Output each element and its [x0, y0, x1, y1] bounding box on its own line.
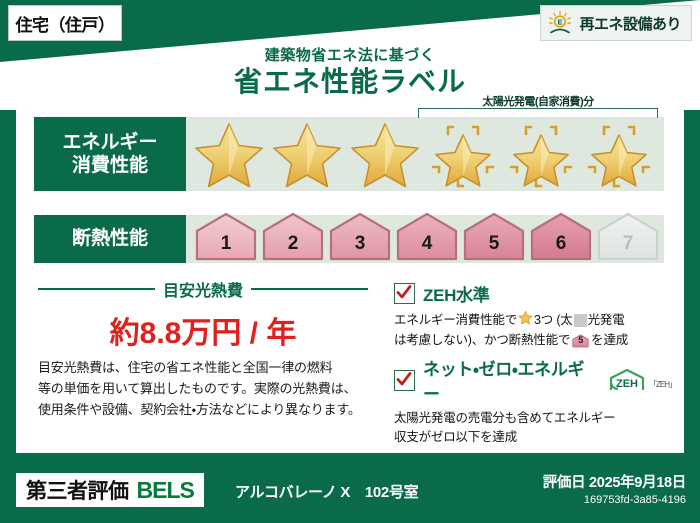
inline-star-icon	[518, 310, 533, 331]
label-main-card: エネルギー 消費性能 太陽光発電(自家消費)分	[16, 105, 684, 453]
insulation-performance-row: 断熱性能	[34, 215, 664, 263]
zeh-desc-part-e: を達成	[591, 331, 628, 350]
net-zero-desc-line-1: 太陽光発電の売電分も含めてエネルギー	[394, 409, 676, 428]
solar-sun-icon: E	[547, 10, 573, 36]
heading-rule-right	[251, 288, 368, 290]
star-6-solar	[580, 115, 658, 191]
zeh-house-logo-icon: ZEH	[607, 368, 647, 392]
bels-japanese-label: 第三者評価	[26, 475, 129, 505]
evaluation-date: 評価日 2025年9月18日	[543, 471, 686, 492]
disclaimer-line-3: 使用条件や設備、契約会社・方法などにより異なります。	[38, 399, 378, 420]
utility-cost-disclaimer: 目安光熱費は、住宅の省エネ性能と全国一律の燃料 等の単価を用いて算出したものです…	[38, 357, 378, 420]
criterion-zeh-standard: ZEH水準 エネルギー消費性能で 3つ (太 光発電 は考慮しない)、かつ断熱性…	[394, 281, 676, 350]
insulation-performance-label-box: 断熱性能	[34, 215, 186, 263]
insulation-level-5: 5	[462, 209, 526, 261]
disclaimer-line-1: 目安光熱費は、住宅の省エネ性能と全国一律の燃料	[38, 357, 378, 378]
zeh-standard-description: エネルギー消費性能で 3つ (太 光発電 は考慮しない)、かつ断熱性能で	[394, 310, 676, 350]
utility-cost-section: 目安光熱費 約8.8万円 / 年	[38, 277, 368, 352]
evaluation-info: 評価日 2025年9月18日 169753fd-3a85-4196	[543, 471, 686, 506]
zeh-desc-part-a: エネルギー消費性能で	[394, 311, 517, 330]
star-4-solar	[424, 115, 502, 191]
insulation-level-2: 2	[261, 209, 325, 261]
utility-cost-value: 約8.8万円 / 年	[38, 308, 368, 352]
renewable-equipment-badge: E 再エネ設備あり	[540, 5, 692, 41]
zeh-standard-desc-line-1: エネルギー消費性能で 3つ (太 光発電	[394, 310, 676, 331]
star-3-filled	[346, 115, 424, 191]
net-zero-description: 太陽光発電の売電分も含めてエネルギー 収支がゼロ以下を達成	[394, 409, 676, 447]
zeh-standard-title: ZEH水準	[423, 281, 490, 306]
criterion-net-zero-header: ネット・ゼロ・エネルギー ZEH 「ZEH」	[394, 355, 676, 405]
solar-portion-note: 太陽光発電(自家消費)分	[414, 93, 662, 109]
evaluation-id: 169753fd-3a85-4196	[543, 494, 686, 506]
star-1-filled	[190, 115, 268, 191]
net-zero-desc-line-2: 収支がゼロ以下を達成	[394, 428, 676, 447]
renewable-badge-label: 再エネ設備あり	[579, 13, 681, 34]
insulation-level-7-inactive: 7	[596, 209, 660, 261]
insulation-level-1: 1	[194, 209, 258, 261]
insulation-level-4: 4	[395, 209, 459, 261]
disclaimer-line-2: 等の単価を用いて算出したものです。実際の光熱費は、	[38, 378, 378, 399]
insulation-level-4-number: 4	[395, 233, 459, 255]
bels-certification-badge: 第三者評価 BELS	[16, 473, 204, 507]
insulation-level-scale: 1 2 3	[194, 209, 660, 261]
obscured-character-block	[574, 314, 587, 327]
insulation-level-6: 6	[529, 209, 593, 261]
property-name: アルコバレーノ X 102号室	[235, 481, 418, 502]
category-tag: 住宅（住戸）	[8, 5, 122, 41]
star-2-filled	[268, 115, 346, 191]
energy-label-line1: エネルギー	[62, 131, 157, 154]
insulation-level-6-number: 6	[529, 233, 593, 255]
zeh-logo-caption: 「ZEH」	[649, 379, 676, 392]
zeh-desc-part-b: 3つ (太	[534, 311, 573, 330]
criterion-zeh-standard-header: ZEH水準	[394, 281, 676, 306]
insulation-level-5-number: 5	[462, 233, 526, 255]
svg-text:E: E	[558, 18, 563, 27]
inline-house-level-number: 5	[572, 334, 589, 348]
inline-house-level-icon: 5	[572, 333, 589, 348]
net-zero-checkbox[interactable]	[394, 370, 415, 391]
check-icon	[396, 284, 412, 301]
zeh-standard-desc-line-2: は考慮しない)、かつ断熱性能で 5 を達成	[394, 331, 676, 350]
energy-stars-panel: 太陽光発電(自家消費)分	[186, 117, 664, 191]
criterion-net-zero-energy: ネット・ゼロ・エネルギー ZEH 「ZEH」 太陽光発電の売電分も含めてエネルギ…	[394, 355, 676, 447]
zeh-desc-part-c: 光発電	[588, 311, 625, 330]
zeh-logo: ZEH 「ZEH」	[607, 368, 676, 392]
bels-logo-text: BELS	[137, 477, 194, 504]
solar-portion-bracket	[418, 108, 658, 118]
utility-cost-heading: 目安光熱費	[163, 277, 243, 301]
energy-star-rating	[190, 115, 658, 191]
utility-cost-heading-row: 目安光熱費	[38, 277, 368, 301]
svg-text:ZEH: ZEH	[616, 378, 638, 390]
insulation-level-7-number: 7	[596, 233, 660, 255]
energy-performance-label: 住宅（住戸） E 再エネ設備あり 建築物省エネ法に基づく 省エネ性能ラベル	[0, 0, 700, 523]
insulation-level-1-number: 1	[194, 233, 258, 255]
label-footer: 第三者評価 BELS アルコバレーノ X 102号室 評価日 2025年9月18…	[0, 461, 700, 523]
check-icon	[396, 371, 412, 388]
energy-performance-label-box: エネルギー 消費性能	[34, 117, 186, 191]
zeh-desc-part-d: は考慮しない)、かつ断熱性能で	[394, 331, 570, 350]
insulation-label-text: 断熱性能	[72, 227, 148, 250]
insulation-level-2-number: 2	[261, 233, 325, 255]
net-zero-title: ネット・ゼロ・エネルギー	[423, 355, 597, 405]
star-5-solar	[502, 115, 580, 191]
insulation-levels-panel: 1 2 3	[186, 215, 664, 263]
heading-rule-left	[38, 288, 155, 290]
energy-label-line2: 消費性能	[72, 154, 148, 177]
insulation-level-3: 3	[328, 209, 392, 261]
zeh-standard-checkbox[interactable]	[394, 283, 415, 304]
energy-performance-row: エネルギー 消費性能 太陽光発電(自家消費)分	[34, 117, 664, 191]
insulation-level-3-number: 3	[328, 233, 392, 255]
